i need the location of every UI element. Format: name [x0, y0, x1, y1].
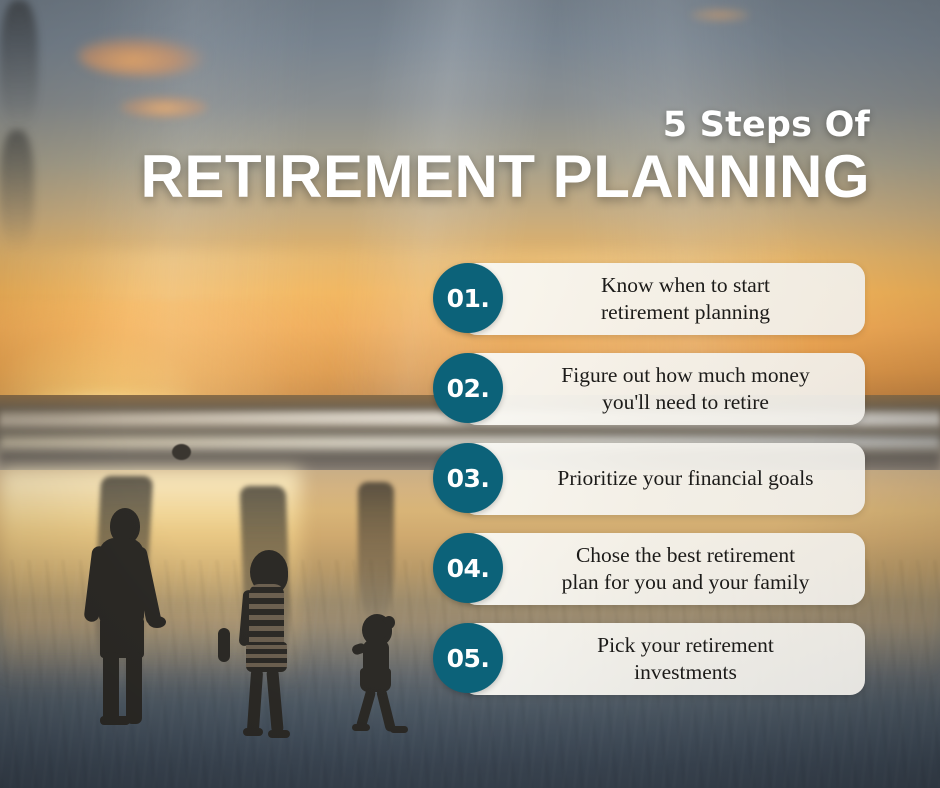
girl-reflection-tail — [0, 130, 34, 250]
step-card[interactable]: Figure out how much money you'll need to… — [462, 353, 865, 425]
cloud-icon — [690, 8, 750, 22]
man-reflection-tail — [0, 0, 38, 130]
step-number-badge: 01. — [433, 263, 503, 333]
step-text: Pick your retirement investments — [524, 632, 847, 686]
list-item[interactable]: Figure out how much money you'll need to… — [433, 353, 865, 425]
step-card[interactable]: Pick your retirement investments — [462, 623, 865, 695]
infographic-poster: 5 Steps Of RETIREMENT PLANNING Know when… — [0, 0, 940, 788]
page-title: RETIREMENT PLANNING — [141, 147, 871, 207]
list-item[interactable]: Know when to start retirement planning 0… — [433, 263, 865, 335]
step-card[interactable]: Chose the best retirement plan for you a… — [462, 533, 865, 605]
step-text: Figure out how much money you'll need to… — [524, 362, 847, 416]
list-item[interactable]: Chose the best retirement plan for you a… — [433, 533, 865, 605]
step-card[interactable]: Know when to start retirement planning — [462, 263, 865, 335]
step-number-badge: 03. — [433, 443, 503, 513]
headline-block: 5 Steps Of RETIREMENT PLANNING — [141, 108, 871, 207]
step-text: Prioritize your financial goals — [524, 465, 847, 492]
kicker-text: 5 Steps Of — [141, 108, 871, 143]
step-number-badge: 05. — [433, 623, 503, 693]
cloud-icon — [78, 36, 206, 76]
ball-object — [172, 444, 191, 460]
list-item[interactable]: Prioritize your financial goals 03. — [433, 443, 865, 515]
step-number-badge: 04. — [433, 533, 503, 603]
step-text: Know when to start retirement planning — [524, 272, 847, 326]
step-number-badge: 02. — [433, 353, 503, 423]
child-reflection — [358, 482, 394, 622]
steps-list: Know when to start retirement planning 0… — [433, 263, 865, 695]
step-text: Chose the best retirement plan for you a… — [524, 542, 847, 596]
step-card[interactable]: Prioritize your financial goals — [462, 443, 865, 515]
list-item[interactable]: Pick your retirement investments 05. — [433, 623, 865, 695]
